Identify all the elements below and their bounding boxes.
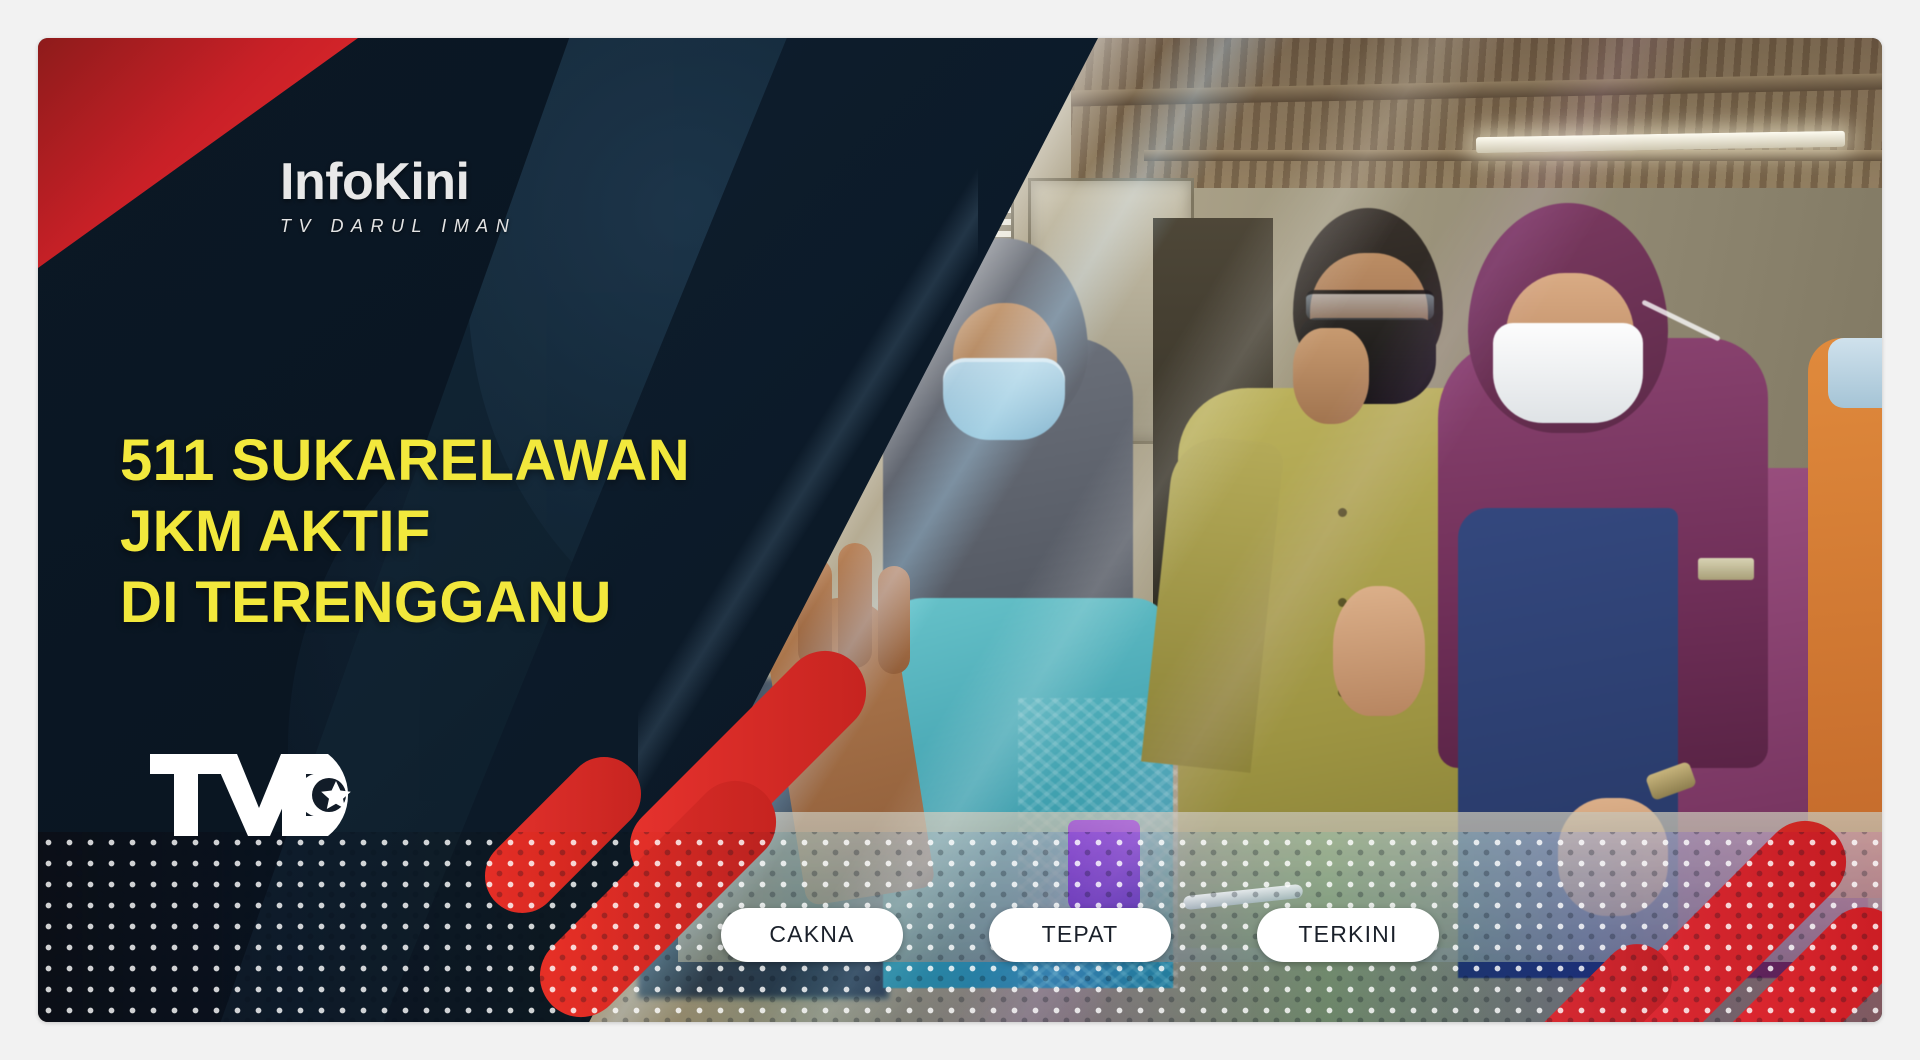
tvd-logo bbox=[150, 748, 380, 840]
tvd-crescent-star-icon bbox=[150, 748, 380, 840]
brand-tagline: TV DARUL IMAN bbox=[280, 217, 516, 235]
brand-name: InfoKini bbox=[280, 156, 516, 208]
pill-tepat[interactable]: TEPAT bbox=[989, 908, 1171, 962]
screenshot-stage: InfoKini TV DARUL IMAN 511 SUKARELAWAN J… bbox=[0, 0, 1920, 1060]
headline-line-1: 511 SUKARELAWAN bbox=[120, 426, 900, 497]
headline: 511 SUKARELAWAN JKM AKTIF DI TERENGGANU bbox=[120, 426, 900, 638]
brand-lockup: InfoKini TV DARUL IMAN bbox=[280, 156, 516, 235]
news-thumbnail-card: InfoKini TV DARUL IMAN 511 SUKARELAWAN J… bbox=[38, 38, 1882, 1022]
tagline-pills: CAKNA TEPAT TERKINI bbox=[38, 908, 1882, 962]
pill-terkini[interactable]: TERKINI bbox=[1257, 908, 1439, 962]
headline-line-3: DI TERENGGANU bbox=[120, 568, 900, 639]
pill-cakna[interactable]: CAKNA bbox=[721, 908, 903, 962]
headline-line-2: JKM AKTIF bbox=[120, 497, 900, 568]
